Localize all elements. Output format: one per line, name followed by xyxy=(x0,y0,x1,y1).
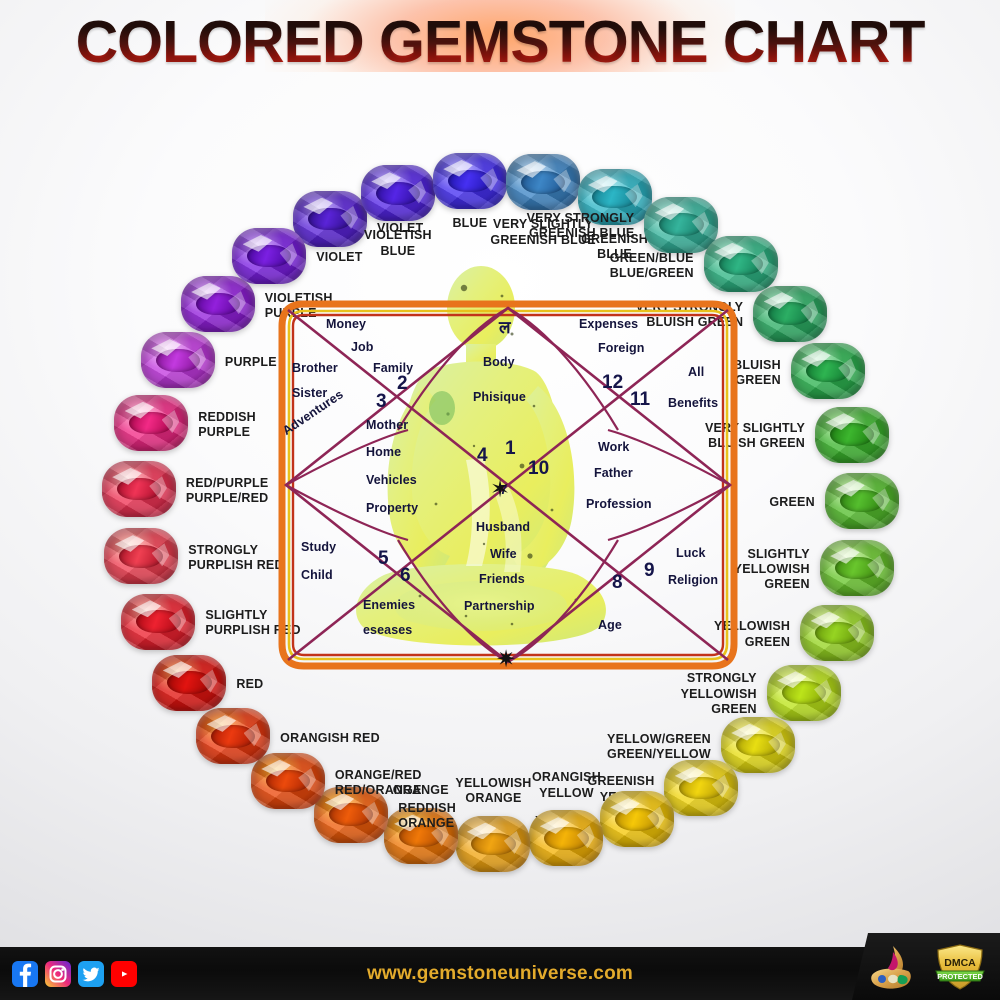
gemstone-icon[interactable] xyxy=(815,407,889,463)
dmca-text: DMCA xyxy=(944,957,976,969)
gem-girdle-rim xyxy=(232,228,306,284)
kundli-label-brother: Brother xyxy=(292,361,338,375)
gem-swatch-12[interactable] xyxy=(800,605,874,661)
gem-swatch-18[interactable] xyxy=(456,816,530,872)
gem-swatch-23[interactable] xyxy=(152,655,226,711)
gemstone-icon[interactable] xyxy=(196,708,270,764)
gemstone-universe-logo xyxy=(866,943,920,991)
gem-swatch-26[interactable] xyxy=(102,461,176,517)
gemstone-icon[interactable] xyxy=(102,461,176,517)
kundli-number-3: 3 xyxy=(376,391,387,413)
kundli-label-friends: Friends xyxy=(479,572,525,586)
kundli-number-8: 8 xyxy=(612,572,623,594)
gem-swatch-9[interactable] xyxy=(815,407,889,463)
gem-swatch-8[interactable] xyxy=(791,343,865,399)
kundli-chart: Money Job Family 2 3 Brother Sister Adve… xyxy=(268,290,748,680)
gem-swatch-6[interactable] xyxy=(704,236,778,292)
kundli-label-all: All xyxy=(688,365,704,379)
gemstone-icon[interactable] xyxy=(753,286,827,342)
gem-girdle-rim xyxy=(433,153,507,209)
gem-label: YELLOW/GREEN GREEN/YELLOW xyxy=(607,732,711,763)
gem-label: RED/PURPLE PURPLE/RED xyxy=(186,476,269,507)
kundli-label-partnership: Partnership xyxy=(464,599,535,613)
gem-swatch-24[interactable] xyxy=(121,594,195,650)
kundli-number-4: 4 xyxy=(477,445,488,467)
website-url[interactable]: www.gemstoneuniverse.com xyxy=(0,947,1000,1000)
gem-girdle-rim xyxy=(104,528,178,584)
gem-swatch-27[interactable] xyxy=(114,395,188,451)
gem-label: REDDISH PURPLE xyxy=(198,410,256,441)
gem-swatch-10[interactable] xyxy=(825,473,899,529)
gem-girdle-rim xyxy=(121,594,195,650)
gem-girdle-rim xyxy=(820,540,894,596)
gemstone-icon[interactable] xyxy=(361,165,435,221)
kundli-label-child: Child xyxy=(301,568,333,582)
gem-girdle-rim xyxy=(791,343,865,399)
kundli-label-luck: Luck xyxy=(676,546,706,560)
kundli-number-10: 10 xyxy=(528,458,549,480)
kundli-label-father: Father xyxy=(594,466,633,480)
kundli-label-money: Money xyxy=(326,317,366,331)
gemstone-icon[interactable] xyxy=(506,154,580,210)
gem-girdle-rim xyxy=(664,760,738,816)
kundli-label-benefits: Benefits xyxy=(668,396,718,410)
kundli-label-wife: Wife xyxy=(490,547,517,561)
gem-girdle-rim xyxy=(114,395,188,451)
gem-girdle-rim xyxy=(767,665,841,721)
gem-swatch-2[interactable] xyxy=(433,153,507,209)
gemstone-icon[interactable] xyxy=(433,153,507,209)
kundli-number-5: 5 xyxy=(378,548,389,570)
gem-girdle-rim xyxy=(361,165,435,221)
gem-swatch-15[interactable] xyxy=(664,760,738,816)
kundli-label-diseases: eseases xyxy=(363,623,412,637)
gem-girdle-rim xyxy=(753,286,827,342)
gemstone-icon[interactable] xyxy=(767,665,841,721)
kundli-number-11: 11 xyxy=(630,389,650,411)
gem-label: GREEN xyxy=(769,495,814,510)
dmca-protected-badge: DMCA PROTECTED xyxy=(934,943,986,991)
gem-swatch-28[interactable] xyxy=(141,332,215,388)
kundli-label-enemies: Enemies xyxy=(363,598,415,612)
gemstone-icon[interactable] xyxy=(820,540,894,596)
brand-badges: DMCA PROTECTED xyxy=(852,933,1000,1000)
gemstone-icon[interactable] xyxy=(529,810,603,866)
gem-girdle-rim xyxy=(800,605,874,661)
kundli-label-study: Study xyxy=(301,540,336,554)
gem-girdle-rim xyxy=(456,816,530,872)
gem-swatch-11[interactable] xyxy=(820,540,894,596)
bottom-star-icon: ✷ xyxy=(496,648,516,672)
gem-label: VIOLET xyxy=(316,250,362,265)
kundli-label-religion: Religion xyxy=(668,573,718,587)
kundli-label-work: Work xyxy=(598,440,629,454)
gemstone-icon[interactable] xyxy=(704,236,778,292)
gem-girdle-rim xyxy=(815,407,889,463)
kundli-glyph-lagna: ल xyxy=(499,315,511,338)
kundli-number-6: 6 xyxy=(400,565,411,587)
kundli-label-age: Age xyxy=(598,618,622,632)
kundli-number-12: 12 xyxy=(602,372,623,394)
gemstone-icon[interactable] xyxy=(141,332,215,388)
gem-label: RED xyxy=(236,677,263,692)
gem-swatch-3[interactable] xyxy=(506,154,580,210)
gemstone-icon[interactable] xyxy=(456,816,530,872)
gemstone-icon[interactable] xyxy=(800,605,874,661)
kundli-label-vehicles: Vehicles xyxy=(366,473,417,487)
gemstone-icon[interactable] xyxy=(152,655,226,711)
gemstone-icon[interactable] xyxy=(791,343,865,399)
gem-girdle-rim xyxy=(529,810,603,866)
gem-label: ORANGE/RED RED/ORANGE xyxy=(335,768,422,799)
gemstone-icon[interactable] xyxy=(104,528,178,584)
gem-swatch-7[interactable] xyxy=(753,286,827,342)
kundli-label-profession: Profession xyxy=(586,497,652,511)
gem-girdle-rim xyxy=(181,276,255,332)
gem-girdle-rim xyxy=(141,332,215,388)
gem-swatch-17[interactable] xyxy=(529,810,603,866)
gem-label: GREEN/BLUE BLUE/GREEN xyxy=(610,251,694,282)
footer-bar: www.gemstoneuniverse.com xyxy=(0,947,1000,1000)
kundli-number-9: 9 xyxy=(644,560,655,582)
gem-girdle-rim xyxy=(704,236,778,292)
kundli-number-2: 2 xyxy=(397,373,408,395)
kundli-label-husband: Husband xyxy=(476,520,530,534)
gemstone-icon[interactable] xyxy=(114,395,188,451)
gemstone-icon[interactable] xyxy=(232,228,306,284)
gem-girdle-rim xyxy=(196,708,270,764)
gem-swatch-25[interactable] xyxy=(104,528,178,584)
center-star-icon: ✶ xyxy=(490,478,510,502)
protected-text: PROTECTED xyxy=(937,972,983,981)
gem-label: REDDISH ORANGE xyxy=(398,801,456,832)
gem-swatch-13[interactable] xyxy=(767,665,841,721)
gem-girdle-rim xyxy=(506,154,580,210)
kundli-label-property: Property xyxy=(366,501,418,515)
gem-girdle-rim xyxy=(825,473,899,529)
kundli-label-job: Job xyxy=(351,340,374,354)
gemstone-icon[interactable] xyxy=(121,594,195,650)
kundli-label-expenses: Expenses xyxy=(579,317,638,331)
gem-label: VERY STRONGLY GREENISH BLUE xyxy=(527,211,635,242)
kundli-number-1: 1 xyxy=(505,438,516,460)
kundli-label-foreign: Foreign xyxy=(598,341,645,355)
gemstone-icon[interactable] xyxy=(181,276,255,332)
gemstone-icon[interactable] xyxy=(664,760,738,816)
gem-swatch-29[interactable] xyxy=(181,276,255,332)
gem-label: ORANGISH RED xyxy=(280,731,380,746)
kundli-label-body: Body xyxy=(483,355,515,369)
kundli-label-home: Home xyxy=(366,445,401,459)
kundli-label-phisique: Phisique xyxy=(473,390,526,404)
gemstone-icon[interactable] xyxy=(825,473,899,529)
gem-girdle-rim xyxy=(152,655,226,711)
gem-swatch-30[interactable] xyxy=(232,228,306,284)
gem-swatch-22[interactable] xyxy=(196,708,270,764)
gem-girdle-rim xyxy=(102,461,176,517)
kundli-label-mother: Mother xyxy=(366,418,408,432)
gem-swatch-1[interactable] xyxy=(361,165,435,221)
